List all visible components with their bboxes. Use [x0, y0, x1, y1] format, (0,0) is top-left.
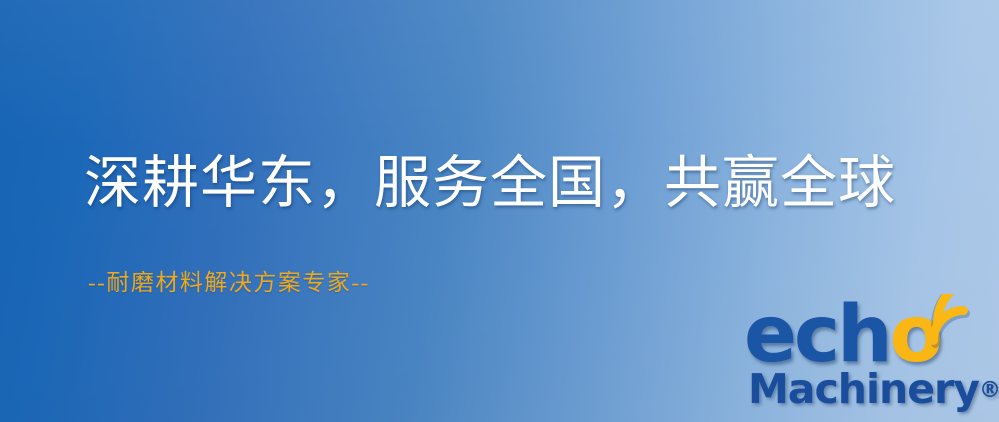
logo-wordmark: echo [744, 296, 940, 374]
page-title: 深耕华东，服务全国，共赢全球 [84, 152, 896, 216]
brand-logo[interactable]: echo Machinery® [744, 296, 994, 422]
logo-subtext-word: Machinery [748, 365, 979, 413]
logo-subtext: Machinery® [748, 366, 999, 414]
hero-banner: 深耕华东，服务全国，共赢全球 --耐磨材料解决方案专家-- echo Machi… [0, 0, 999, 422]
signal-waves-icon [926, 294, 990, 358]
registered-trademark-icon: ® [979, 378, 999, 403]
page-subtitle: --耐磨材料解决方案专家-- [88, 268, 370, 298]
